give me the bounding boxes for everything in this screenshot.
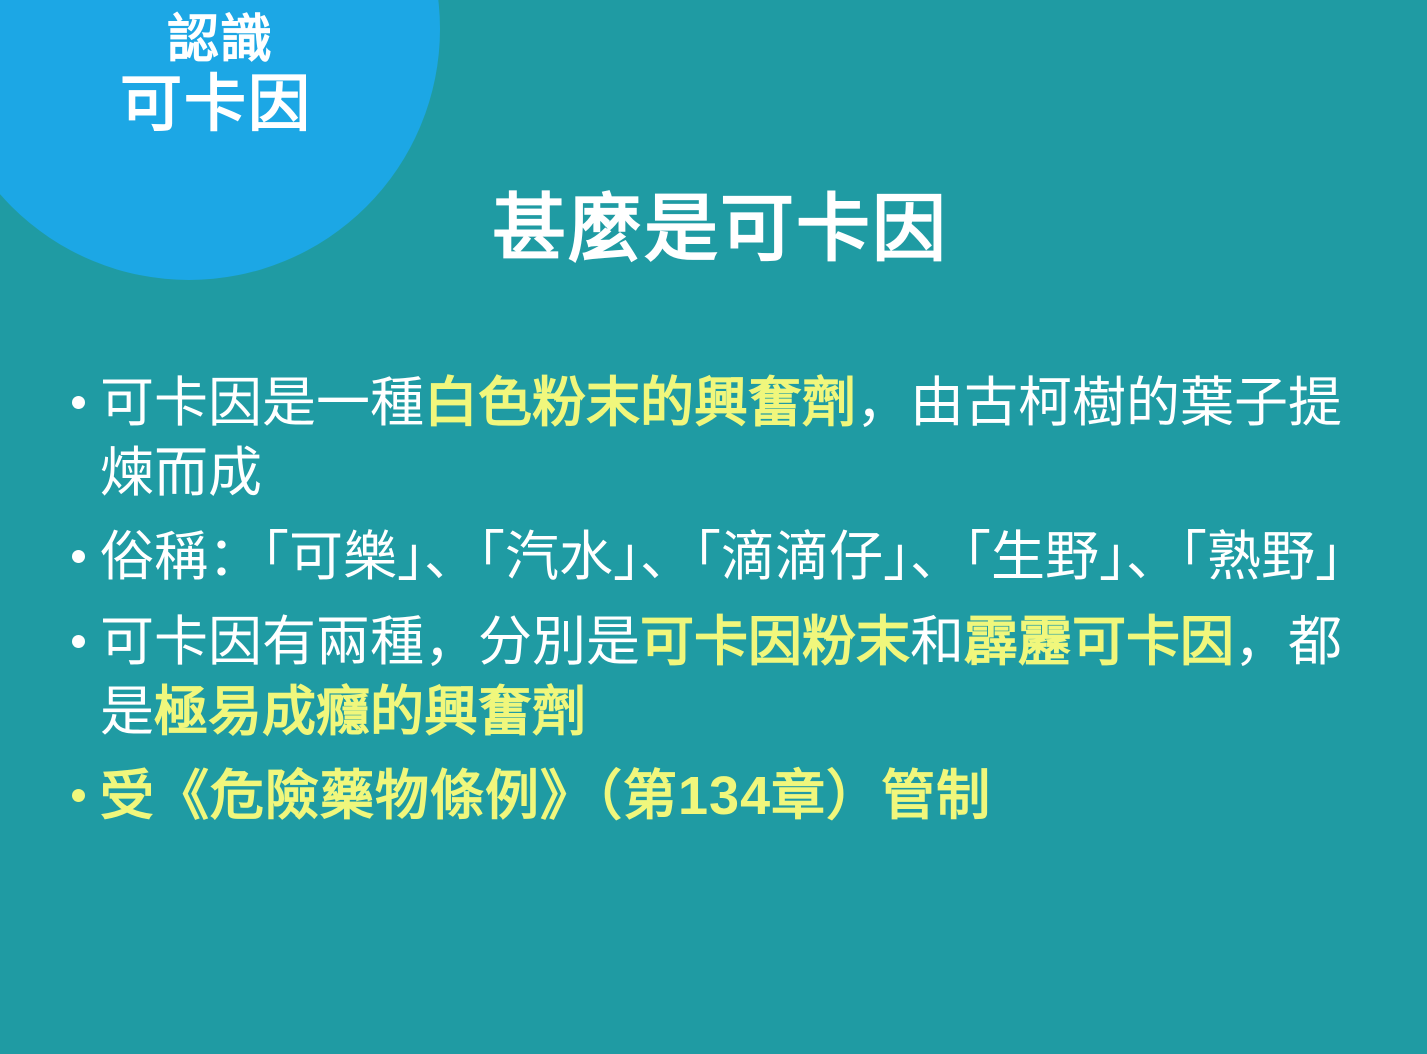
list-item-text: 俗稱：「可樂」、「汽水」、「滴滴仔」、「生野」、「熟野」 bbox=[100, 522, 1386, 592]
highlighted-text: 霹靂可卡因 bbox=[964, 612, 1234, 672]
list-item: 可卡因有兩種，分別是可卡因粉末和霹靂可卡因，都是極易成癮的興奮劑 bbox=[56, 607, 1386, 747]
highlighted-text: 白色粉末的興奮劑 bbox=[424, 373, 856, 433]
body-text: 可卡因是一種 bbox=[100, 373, 424, 433]
bullet-dot-icon bbox=[72, 396, 85, 409]
corner-badge-circle bbox=[0, 0, 440, 280]
bullet-dot-icon bbox=[72, 789, 85, 802]
bullet-list: 可卡因是一種白色粉末的興奮劑，由古柯樹的葉子提煉而成俗稱：「可樂」、「汽水」、「… bbox=[56, 368, 1386, 845]
list-item: 俗稱：「可樂」、「汽水」、「滴滴仔」、「生野」、「熟野」 bbox=[56, 522, 1386, 592]
body-text: 可卡因有兩種，分別是 bbox=[100, 612, 640, 672]
bullet-dot-icon bbox=[72, 550, 85, 563]
bullet-marker bbox=[56, 368, 100, 409]
bullet-dot-icon bbox=[72, 635, 85, 648]
list-item-text: 可卡因是一種白色粉末的興奮劑，由古柯樹的葉子提煉而成 bbox=[100, 368, 1386, 508]
list-item: 受《危險藥物條例》（第134章）管制 bbox=[56, 761, 1386, 831]
highlighted-text: 受《危險藥物條例》（第134章）管制 bbox=[100, 766, 991, 826]
bullet-marker bbox=[56, 522, 100, 563]
bullet-marker bbox=[56, 607, 100, 648]
body-text: 和 bbox=[910, 612, 964, 672]
list-item-text: 可卡因有兩種，分別是可卡因粉末和霹靂可卡因，都是極易成癮的興奮劑 bbox=[100, 607, 1386, 747]
bullet-marker bbox=[56, 761, 100, 802]
highlighted-text: 可卡因粉末 bbox=[640, 612, 910, 672]
page-title: 甚麼是可卡因 bbox=[440, 186, 1000, 271]
slide-canvas: 認識 可卡因 甚麼是可卡因 可卡因是一種白色粉末的興奮劑，由古柯樹的葉子提煉而成… bbox=[0, 0, 1427, 1054]
body-text: 俗稱：「可樂」、「汽水」、「滴滴仔」、「生野」、「熟野」 bbox=[100, 527, 1369, 587]
list-item-text: 受《危險藥物條例》（第134章）管制 bbox=[100, 761, 1386, 831]
list-item: 可卡因是一種白色粉末的興奮劑，由古柯樹的葉子提煉而成 bbox=[56, 368, 1386, 508]
highlighted-text: 極易成癮的興奮劑 bbox=[154, 682, 586, 742]
